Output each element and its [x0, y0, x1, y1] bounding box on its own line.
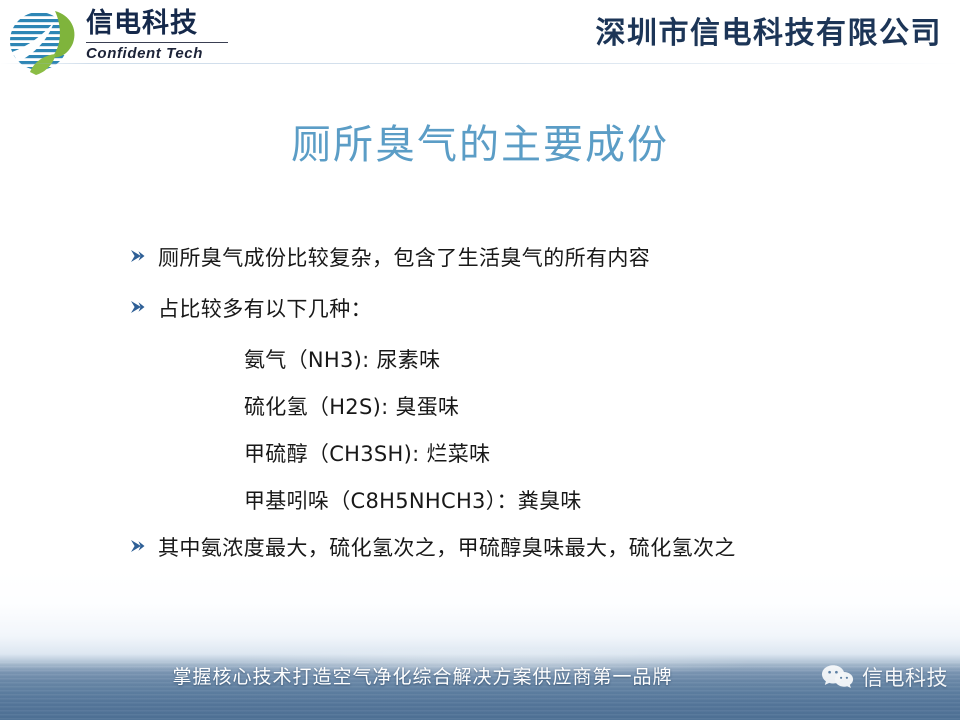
header-divider: [0, 63, 960, 64]
chemical-list: 氨气（NH3): 尿素味 硫化氢（H2S): 臭蛋味 甲硫醇（CH3SH): 烂…: [130, 345, 920, 516]
list-item: 氨气（NH3): 尿素味: [244, 345, 920, 375]
list-item: 甲基吲哚（C8H5NHCH3）：粪臭味: [244, 486, 920, 516]
chevron-right-bullet-icon: [130, 533, 158, 554]
slide-content: 厕所臭气成份比较复杂，包含了生活臭气的所有内容 占比较多有以下几种： 氨气（NH…: [130, 243, 920, 584]
bullet-item-1: 厕所臭气成份比较复杂，包含了生活臭气的所有内容: [130, 243, 920, 273]
bullet-text: 占比较多有以下几种：: [158, 294, 920, 324]
logo-en-text: Confident Tech: [86, 45, 236, 62]
logo-wordmark: 信电科技 Confident Tech: [86, 9, 236, 62]
slide-canvas: 信电科技 Confident Tech 深圳市信电科技有限公司 厕所臭气的主要成…: [0, 0, 960, 720]
logo-cn-text: 信电科技: [86, 9, 236, 39]
chevron-right-bullet-icon: [130, 294, 158, 315]
globe-leaf-logo-icon: [8, 6, 82, 78]
wechat-icon: [821, 663, 855, 691]
slide-header: 信电科技 Confident Tech 深圳市信电科技有限公司: [0, 0, 960, 64]
page-title: 厕所臭气的主要成份: [0, 112, 960, 170]
wechat-watermark: 信电科技: [821, 662, 948, 692]
wechat-label: 信电科技: [862, 662, 948, 692]
list-item: 甲硫醇（CH3SH): 烂菜味: [244, 439, 920, 469]
slide-footer: 掌握核心技术打造空气净化综合解决方案供应商第一品牌 信电科技: [0, 570, 960, 720]
bullet-item-3: 其中氨浓度最大，硫化氢次之，甲硫醇臭味最大，硫化氢次之: [130, 533, 920, 563]
logo-divider: [86, 42, 228, 43]
chevron-right-bullet-icon: [130, 243, 158, 264]
footer-tagline: 掌握核心技术打造空气净化综合解决方案供应商第一品牌: [0, 662, 845, 689]
company-name-heading: 深圳市信电科技有限公司: [596, 8, 943, 52]
list-item: 硫化氢（H2S): 臭蛋味: [244, 392, 920, 422]
bullet-item-2: 占比较多有以下几种：: [130, 294, 920, 324]
bullet-text: 其中氨浓度最大，硫化氢次之，甲硫醇臭味最大，硫化氢次之: [158, 533, 920, 563]
bullet-text: 厕所臭气成份比较复杂，包含了生活臭气的所有内容: [158, 243, 920, 273]
